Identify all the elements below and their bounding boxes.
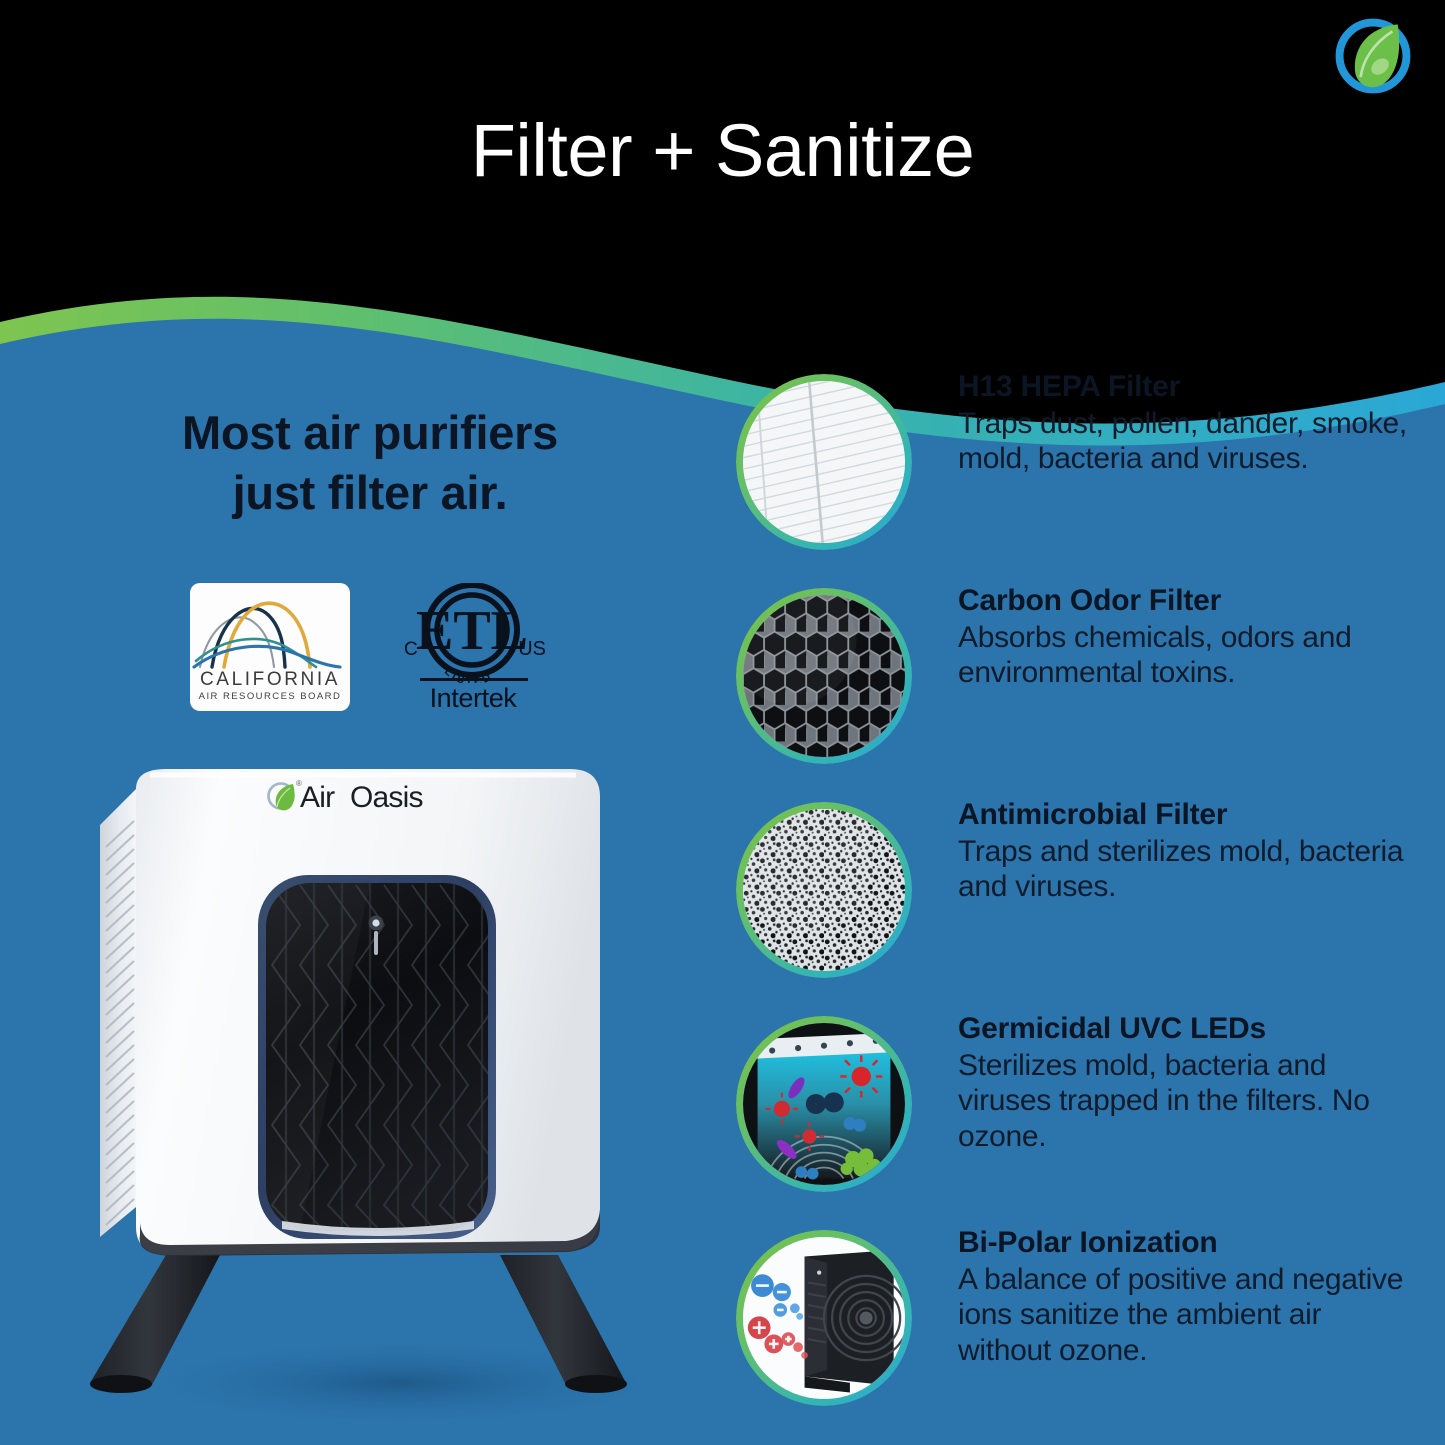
feature-title: H13 HEPA Filter <box>958 370 1418 405</box>
feature-carbon-odor-filter: Carbon Odor Filter Absorbs chemicals, od… <box>718 584 1428 798</box>
uvc-led-panel-germs-icon <box>736 1016 912 1192</box>
feature-title: Antimicrobial Filter <box>958 798 1418 833</box>
air-purifier-product-image: Air Oasis ® <box>70 735 710 1435</box>
etl-us-label: US <box>518 638 546 661</box>
feature-antimicrobial-filter: Antimicrobial Filter Traps and sterilize… <box>718 798 1428 1012</box>
left-headline: Most air purifiers just filter air. <box>70 403 670 522</box>
feature-title: Bi-Polar Ionization <box>958 1226 1418 1261</box>
feature-germicidal-uvc-leds: Germicidal UVC LEDs Sterilizes mold, bac… <box>718 1012 1428 1226</box>
intertek-label: Intertek <box>398 683 548 714</box>
feature-title: Carbon Odor Filter <box>958 584 1418 619</box>
leaf-in-circle-logo <box>1329 12 1417 100</box>
pleated-hepa-filter-icon <box>736 374 912 550</box>
feature-h13-hepa-filter: H13 HEPA Filter Traps dust, pollen, dand… <box>718 370 1428 584</box>
carb-line-2: AIR RESOURCES BOARD <box>190 691 350 702</box>
svg-text:ETL: ETL <box>416 600 528 662</box>
headline-line-2: just filter air. <box>70 463 670 523</box>
feature-bi-polar-ionization: Bi-Polar Ionization A balance of positiv… <box>718 1226 1428 1440</box>
feature-description: Sterilizes mold, bacteria and viruses tr… <box>958 1048 1418 1154</box>
page-title: Filter + Sanitize <box>0 108 1445 193</box>
speckled-antimicrobial-filter-icon <box>736 802 912 978</box>
etl-divider <box>420 678 528 681</box>
feature-description: Traps dust, pollen, dander, smoke, mold,… <box>958 406 1418 477</box>
feature-description: A balance of positive and negative ions … <box>958 1262 1418 1368</box>
svg-text:Oasis: Oasis <box>350 781 423 814</box>
svg-text:®: ® <box>296 779 302 788</box>
honeycomb-carbon-filter-icon <box>736 588 912 764</box>
feature-list: H13 HEPA Filter Traps dust, pollen, dand… <box>718 370 1428 1440</box>
etl-listed-mark-icon: ETL LISTED <box>398 583 548 683</box>
california-air-resources-board-arcs-icon <box>190 587 350 671</box>
carb-line-1: CALIFORNIA <box>190 669 350 691</box>
svg-text:Air: Air <box>300 781 335 814</box>
infographic-canvas: Filter + Sanitize Most air purif <box>0 0 1445 1445</box>
etl-badge: ETL LISTED C US Intertek <box>398 583 548 715</box>
feature-title: Germicidal UVC LEDs <box>958 1012 1418 1047</box>
carb-badge: CALIFORNIA AIR RESOURCES BOARD <box>190 583 350 711</box>
feature-description: Traps and sterilizes mold, bacteria and … <box>958 834 1418 905</box>
bipolar-ion-fan-icon <box>736 1230 912 1406</box>
headline-line-1: Most air purifiers <box>70 403 670 463</box>
etl-canada-label: C <box>404 639 418 661</box>
feature-description: Absorbs chemicals, odors and environment… <box>958 620 1418 691</box>
certification-badges: CALIFORNIA AIR RESOURCES BOARD ETL LISTE… <box>190 583 548 715</box>
